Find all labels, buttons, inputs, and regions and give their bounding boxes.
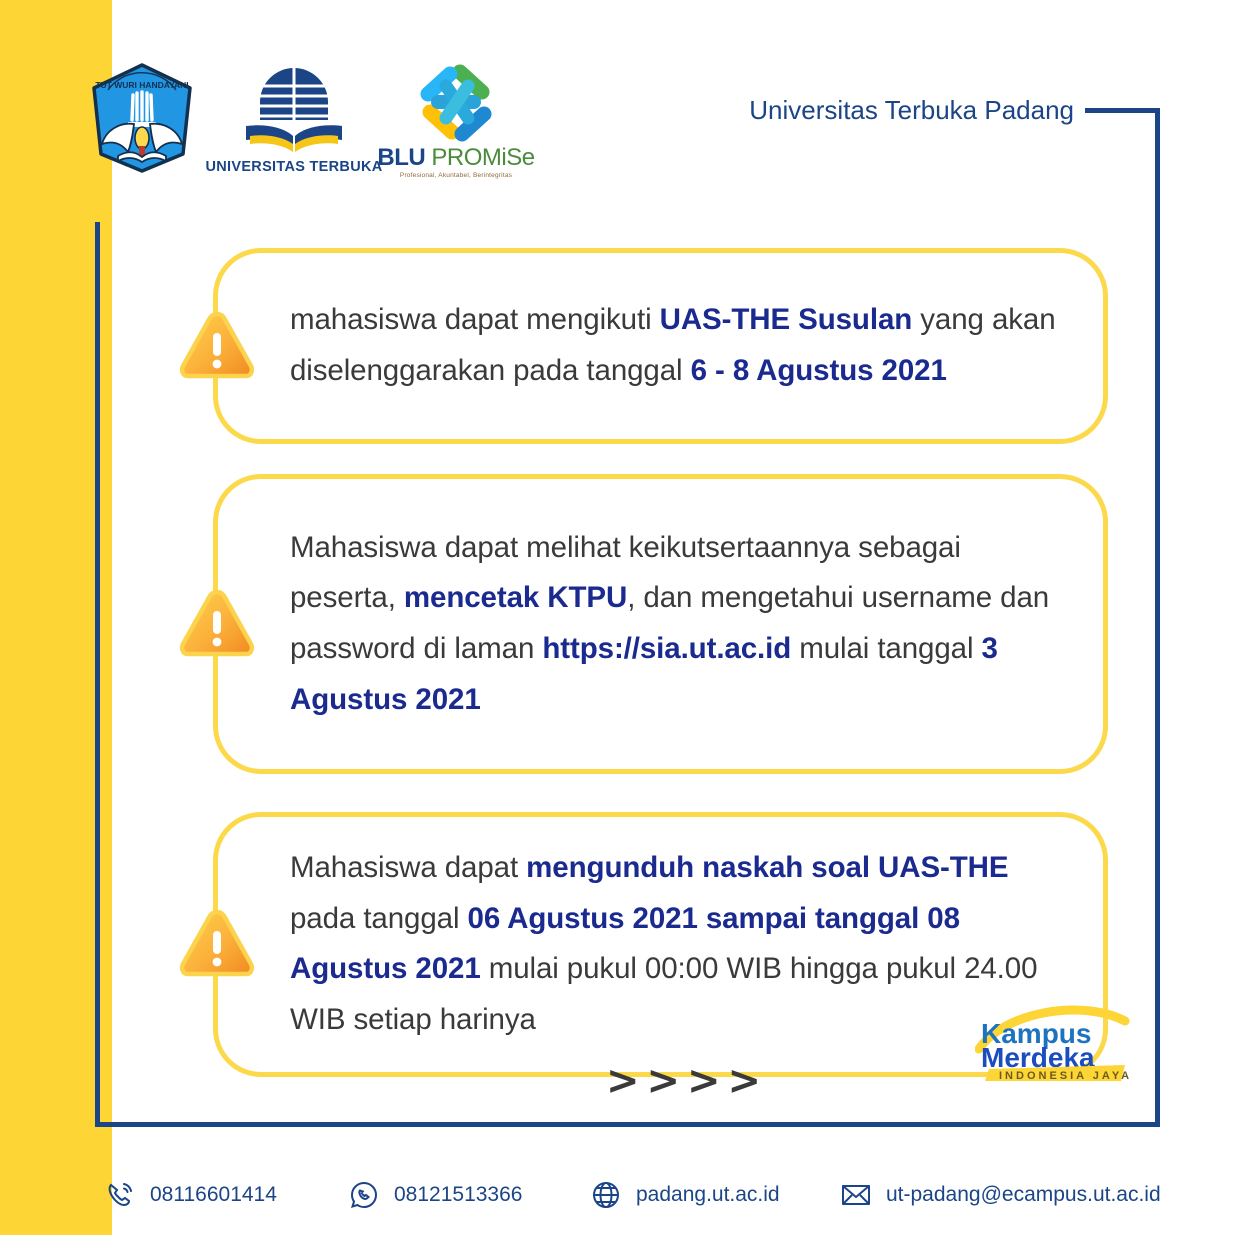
- kampus-merdeka-logo: Kampus Merdeka INDONESIA JAYA: [975, 1003, 1135, 1083]
- contact-email[interactable]: ut-padang@ecampus.ut.ac.id: [840, 1179, 1161, 1211]
- info-card-3: Mahasiswa dapat mengunduh naskah soal UA…: [213, 812, 1108, 1077]
- contact-website-value: padang.ut.ac.id: [636, 1183, 780, 1207]
- blu-word-light: PROMiSe: [425, 144, 534, 171]
- info-card-1-text: mahasiswa dapat mengikuti UAS-THE Susula…: [290, 295, 1069, 396]
- header: TUT WURI HANDAYANI: [0, 0, 1237, 210]
- frame-bottom-edge: [95, 1122, 1160, 1127]
- ut-wordmark: UNIVERSITAS TERBUKA: [205, 159, 382, 175]
- envelope-icon: [840, 1179, 872, 1211]
- warning-triangle-icon: [178, 587, 256, 661]
- blu-promise-logo: BLU PROMiSe Profesional, Akuntabel, Beri…: [392, 62, 520, 180]
- universitas-terbuka-logo: UNIVERSITAS TERBUKA: [234, 62, 354, 180]
- warning-triangle-icon: [178, 309, 256, 383]
- logo-row: TUT WURI HANDAYANI: [88, 62, 520, 180]
- contact-whatsapp-value: 08121513366: [394, 1183, 522, 1207]
- next-slide-indicator[interactable]: >>>>: [606, 1058, 768, 1104]
- kampus-line3: INDONESIA JAYA: [999, 1070, 1132, 1082]
- info-card-2: Mahasiswa dapat melihat keikutsertaannya…: [213, 474, 1108, 774]
- phone-icon: [104, 1179, 136, 1211]
- warning-triangle-icon: [178, 907, 256, 981]
- contact-website[interactable]: padang.ut.ac.id: [590, 1179, 780, 1211]
- info-card-2-text: Mahasiswa dapat melihat keikutsertaannya…: [290, 523, 1069, 726]
- blu-tagline: Profesional, Akuntabel, Berintegritas: [400, 172, 512, 179]
- page-title: Universitas Terbuka Padang: [749, 95, 1074, 126]
- tut-wuri-handayani-logo: TUT WURI HANDAYANI: [88, 62, 196, 179]
- contact-phone[interactable]: 08116601414: [104, 1179, 277, 1211]
- contact-phone-value: 08116601414: [150, 1183, 277, 1207]
- blu-word-bold: BLU: [377, 144, 425, 171]
- info-card-3-text: Mahasiswa dapat mengunduh naskah soal UA…: [290, 843, 1069, 1046]
- footer-contacts: 08116601414 08121513366 padang.ut.ac.id …: [0, 1155, 1237, 1235]
- contact-email-value: ut-padang@ecampus.ut.ac.id: [886, 1183, 1161, 1207]
- svg-text:TUT WURI HANDAYANI: TUT WURI HANDAYANI: [95, 80, 188, 90]
- frame-left-edge: [95, 222, 100, 1127]
- contact-whatsapp[interactable]: 08121513366: [348, 1179, 522, 1211]
- info-card-1: mahasiswa dapat mengikuti UAS-THE Susula…: [213, 248, 1108, 444]
- frame-right-edge: [1155, 108, 1160, 1127]
- whatsapp-icon: [348, 1179, 380, 1211]
- globe-icon: [590, 1179, 622, 1211]
- blu-wordmark: BLU PROMiSe: [377, 146, 534, 170]
